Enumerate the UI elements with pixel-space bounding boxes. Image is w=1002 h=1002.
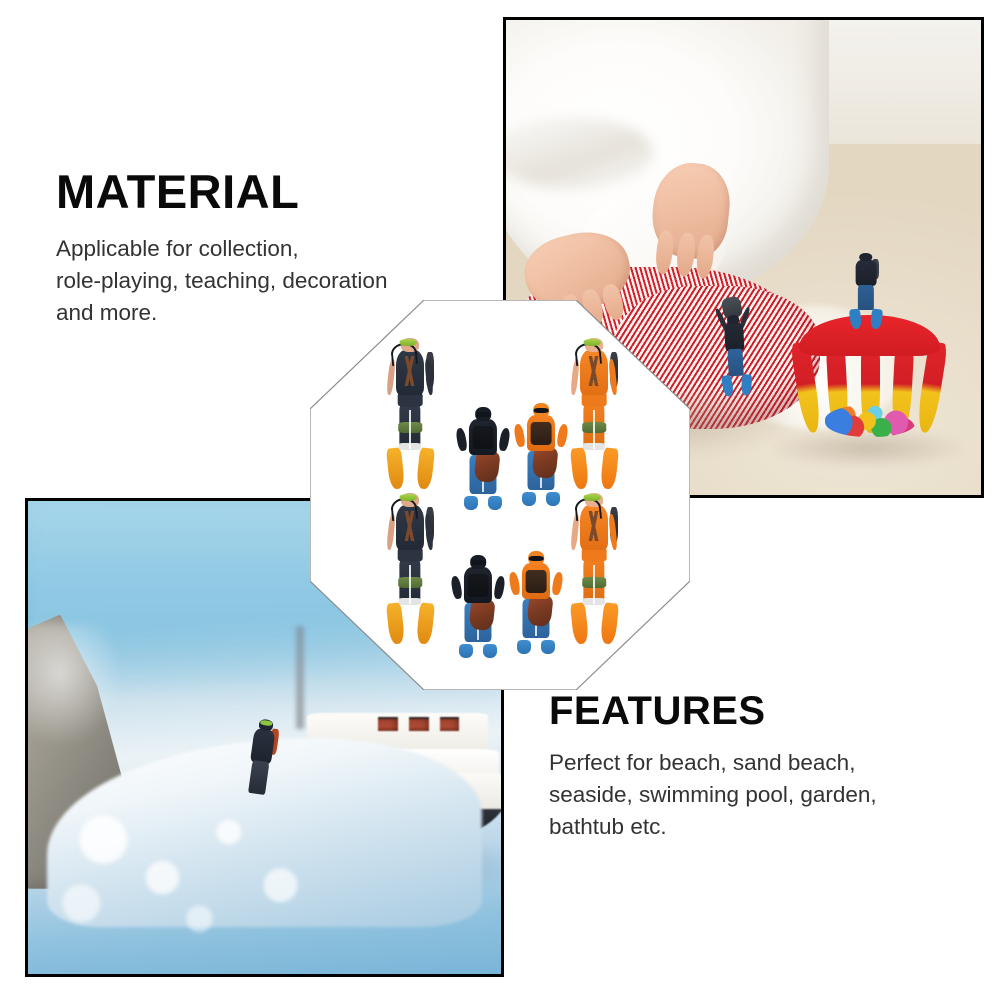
features-body: Perfect for beach, sand beach, seaside, … (549, 747, 949, 843)
shirt-fold (506, 117, 653, 190)
figure-tall-navy-1 (382, 338, 438, 488)
ship-mast (296, 626, 303, 729)
material-section: MATERIAL Applicable for collection, role… (56, 168, 456, 329)
diver-figure-lifting-tank (713, 313, 758, 396)
figure-tall-orange-1 (566, 338, 622, 488)
diver-figure-on-dome (843, 253, 888, 329)
colored-balls (825, 405, 916, 437)
wave-foam (37, 794, 406, 945)
material-heading: MATERIAL (56, 168, 456, 215)
ship-funnel (409, 717, 429, 731)
figure-tall-navy-2 (382, 493, 438, 643)
figure-short-black-2 (452, 555, 504, 659)
features-heading: FEATURES (549, 691, 949, 731)
figure-short-orange-1 (515, 403, 567, 507)
product-figure-set-octagon (310, 300, 690, 690)
infographic-canvas: MATERIAL Applicable for collection, role… (0, 0, 1002, 1002)
iceberg-snow (28, 624, 123, 747)
figure-tall-orange-2 (566, 493, 622, 643)
material-body: Applicable for collection, role-playing,… (56, 233, 456, 329)
toy-ball-dome (796, 315, 943, 439)
ship-funnel (440, 717, 460, 731)
features-section: FEATURES Perfect for beach, sand beach, … (549, 691, 949, 843)
figure-short-orange-2 (510, 551, 562, 655)
ship-funnel (378, 717, 398, 731)
figure-short-black-1 (457, 407, 509, 511)
